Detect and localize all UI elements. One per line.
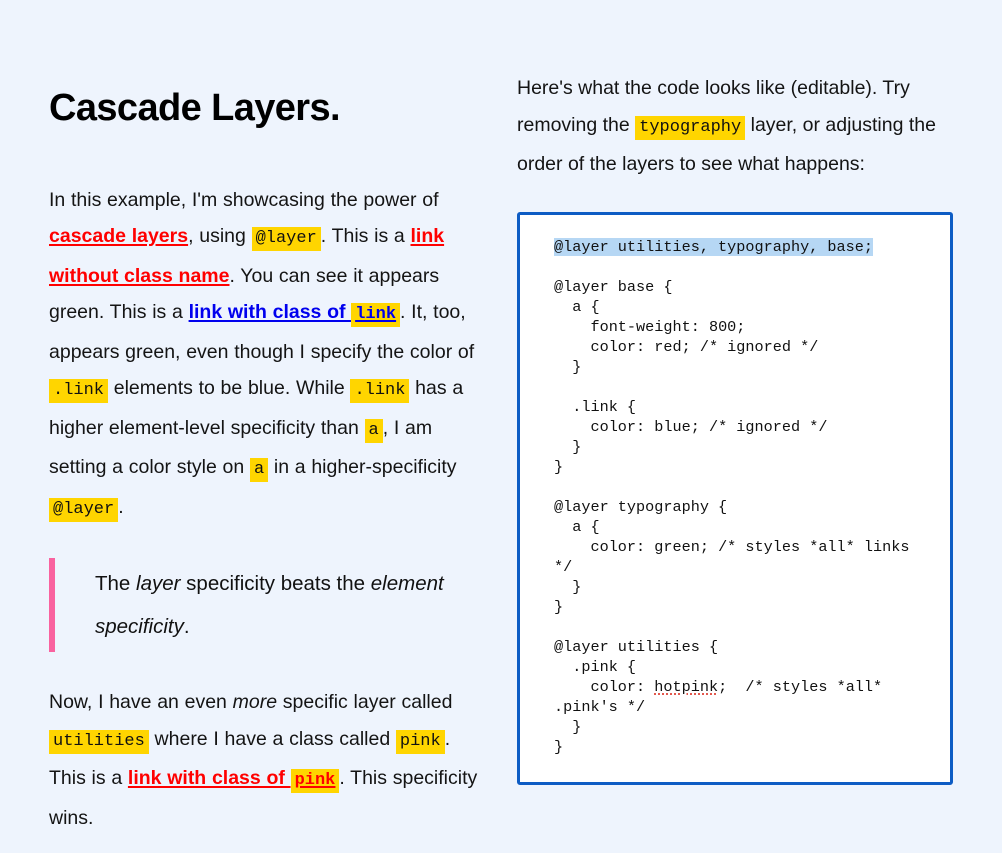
intro-text-10: . xyxy=(118,496,123,518)
intro-text-9: in a higher-specificity xyxy=(268,456,456,478)
intro-text-6: elements to be blue. While xyxy=(108,377,350,399)
code-selected-line[interactable]: @layer utilities, typography, base; xyxy=(554,238,873,256)
intro-text-3: . This is a xyxy=(321,225,411,247)
link-with-class-pink-label: link with class of xyxy=(128,767,291,789)
intro-text-1: In this example, I'm showcasing the powe… xyxy=(49,189,439,211)
utilities-text-1: Now, I have an even xyxy=(49,691,233,713)
code-chip-pink-2: pink xyxy=(291,769,340,793)
code-chip-dotlink-2: .link xyxy=(350,379,409,403)
code-editor-content[interactable]: @layer utilities, typography, base; @lay… xyxy=(554,237,934,757)
quote-text-2: specificity beats the xyxy=(180,572,370,595)
page-root: Cascade Layers. In this example, I'm sho… xyxy=(0,0,1002,853)
utilities-paragraph: Now, I have an even more specific layer … xyxy=(49,684,481,836)
code-chip-atlayer-1: @layer xyxy=(252,227,321,251)
code-chip-dotlink-1: .link xyxy=(49,379,108,403)
code-chip-typography: typography xyxy=(635,116,745,140)
code-chip-utilities: utilities xyxy=(49,730,149,754)
quote-emphasis-layer: layer xyxy=(136,572,180,595)
code-chip-atlayer-2: @layer xyxy=(49,498,118,522)
code-spellcheck-word-hotpink[interactable]: hotpink xyxy=(654,678,718,696)
cascade-layers-link[interactable]: cascade layers xyxy=(49,225,188,247)
right-column: Here's what the code looks like (editabl… xyxy=(517,0,953,785)
code-chip-pink-1: pink xyxy=(396,730,445,754)
code-body-before-spellcheck[interactable]: @layer base { a { font-weight: 800; colo… xyxy=(554,278,919,696)
blockquote-text: The layer specificity beats the element … xyxy=(95,562,481,648)
code-editor-panel[interactable]: @layer utilities, typography, base; @lay… xyxy=(517,212,953,785)
quote-text-3: . xyxy=(184,615,190,638)
link-with-class-of-link[interactable]: link with class of link xyxy=(189,301,400,323)
page-title: Cascade Layers. xyxy=(49,0,481,130)
code-chip-a-1: a xyxy=(365,419,383,443)
left-column: Cascade Layers. In this example, I'm sho… xyxy=(49,0,481,836)
blockquote-specificity: The layer specificity beats the element … xyxy=(49,558,481,652)
utilities-emphasis-more: more xyxy=(233,691,277,713)
code-chip-a-2: a xyxy=(250,458,268,482)
intro-text-2: , using xyxy=(188,225,251,247)
code-intro-paragraph: Here's what the code looks like (editabl… xyxy=(517,0,953,183)
link-with-class-of-pink[interactable]: link with class of pink xyxy=(128,767,339,789)
link-with-class-label: link with class of xyxy=(189,301,352,323)
code-chip-link: link xyxy=(351,303,400,327)
intro-paragraph: In this example, I'm showcasing the powe… xyxy=(49,182,481,529)
quote-text-1: The xyxy=(95,572,136,595)
utilities-text-3: where I have a class called xyxy=(149,728,396,750)
utilities-text-2: specific layer called xyxy=(277,691,452,713)
